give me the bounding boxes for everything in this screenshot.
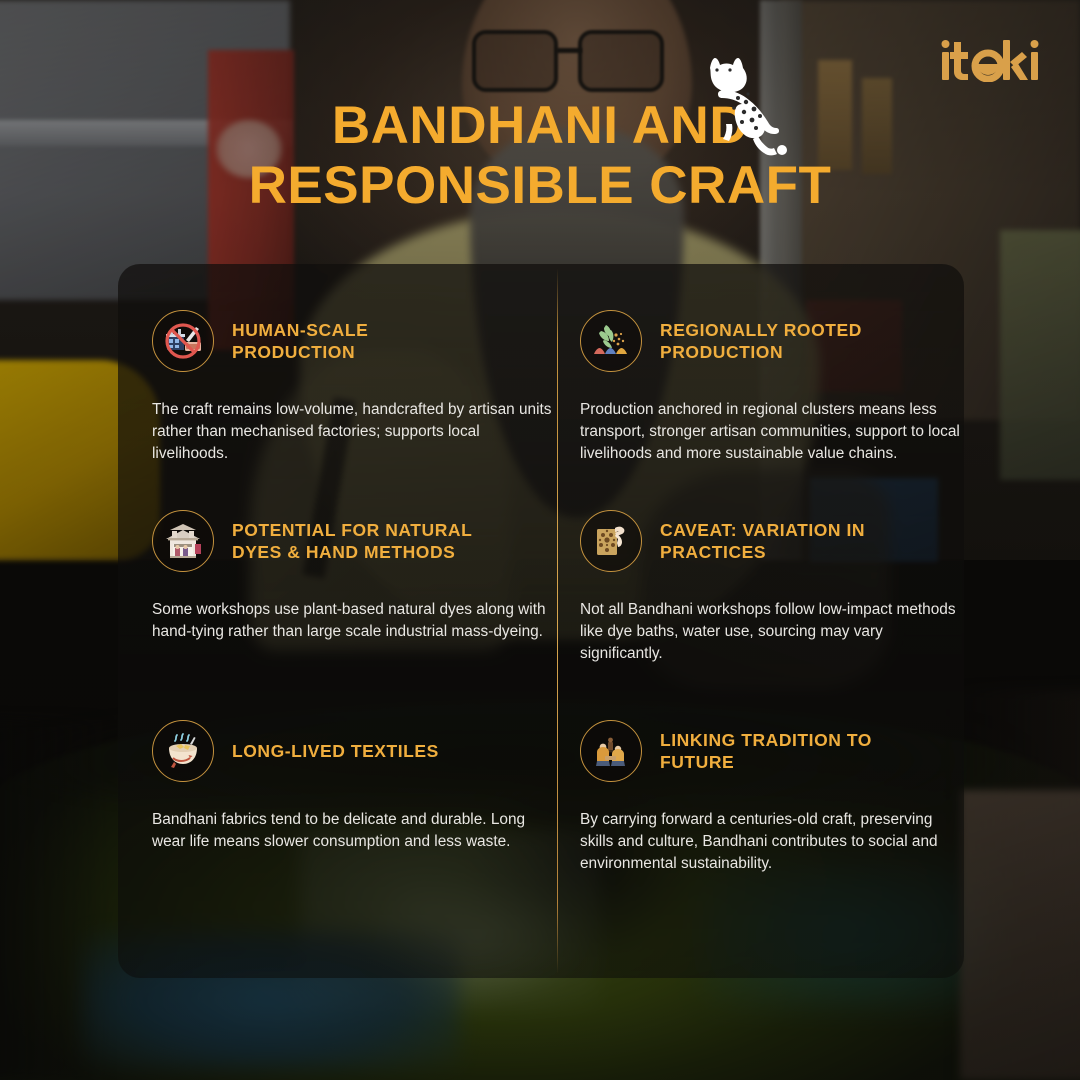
itokri-logo[interactable]	[940, 38, 1044, 82]
no-factory-icon	[152, 310, 214, 372]
card-long-lived-textiles[interactable]: LONG-LIVED TEXTILES Bandhani fabrics ten…	[152, 720, 552, 853]
leopard-icon	[686, 52, 802, 160]
card-title: HUMAN-SCALE PRODUCTION	[232, 319, 487, 363]
card-body: Bandhani fabrics tend to be delicate and…	[152, 809, 552, 853]
card-body: Production anchored in regional clusters…	[580, 399, 964, 465]
infographic-poster: BANDHANI AND RESPONSIBLE CRAFT	[0, 0, 1080, 1080]
card-header: REGIONALLY ROOTED PRODUCTION	[580, 310, 964, 372]
poster-title: BANDHANI AND RESPONSIBLE CRAFT	[0, 96, 1080, 217]
card-regionally-rooted-production[interactable]: REGIONALLY ROOTED PRODUCTION Production …	[580, 310, 964, 465]
card-body: Some workshops use plant-based natural d…	[152, 599, 552, 643]
card-title: REGIONALLY ROOTED PRODUCTION	[660, 319, 932, 363]
card-body: Not all Bandhani workshops follow low-im…	[580, 599, 964, 665]
card-linking-tradition-to-future[interactable]: LINKING TRADITION TO FUTURE By carrying …	[580, 720, 964, 875]
card-title: CAVEAT: VARIATION IN PRACTICES	[660, 519, 932, 563]
card-body: By carrying forward a centuries-old craf…	[580, 809, 964, 875]
title-line-2: RESPONSIBLE CRAFT	[0, 156, 1080, 216]
card-caveat-variation-in-practices[interactable]: CAVEAT: VARIATION IN PRACTICES Not all B…	[580, 510, 964, 665]
card-title: LONG-LIVED TEXTILES	[232, 740, 439, 762]
feature-card-grid: HUMAN-SCALE PRODUCTION The craft remains…	[118, 264, 964, 978]
card-header: LONG-LIVED TEXTILES	[152, 720, 552, 782]
natural-dye-leaves-icon	[580, 310, 642, 372]
card-header: POTENTIAL FOR NATURAL DYES & HAND METHOD…	[152, 510, 552, 572]
card-header: LINKING TRADITION TO FUTURE	[580, 720, 964, 782]
card-natural-dyes-hand-methods[interactable]: POTENTIAL FOR NATURAL DYES & HAND METHOD…	[152, 510, 552, 643]
card-body: The craft remains low-volume, handcrafte…	[152, 399, 552, 465]
card-human-scale-production[interactable]: HUMAN-SCALE PRODUCTION The craft remains…	[152, 310, 552, 465]
card-title: LINKING TRADITION TO FUTURE	[660, 729, 932, 773]
card-header: CAVEAT: VARIATION IN PRACTICES	[580, 510, 964, 572]
hand-holding-bandhani-fabric-icon	[580, 510, 642, 572]
card-header: HUMAN-SCALE PRODUCTION	[152, 310, 552, 372]
title-line-1: BANDHANI AND	[0, 96, 1080, 156]
dye-pot-icon	[152, 720, 214, 782]
craft-workshop-building-icon	[152, 510, 214, 572]
card-title: POTENTIAL FOR NATURAL DYES & HAND METHOD…	[232, 519, 487, 563]
two-artisans-icon	[580, 720, 642, 782]
